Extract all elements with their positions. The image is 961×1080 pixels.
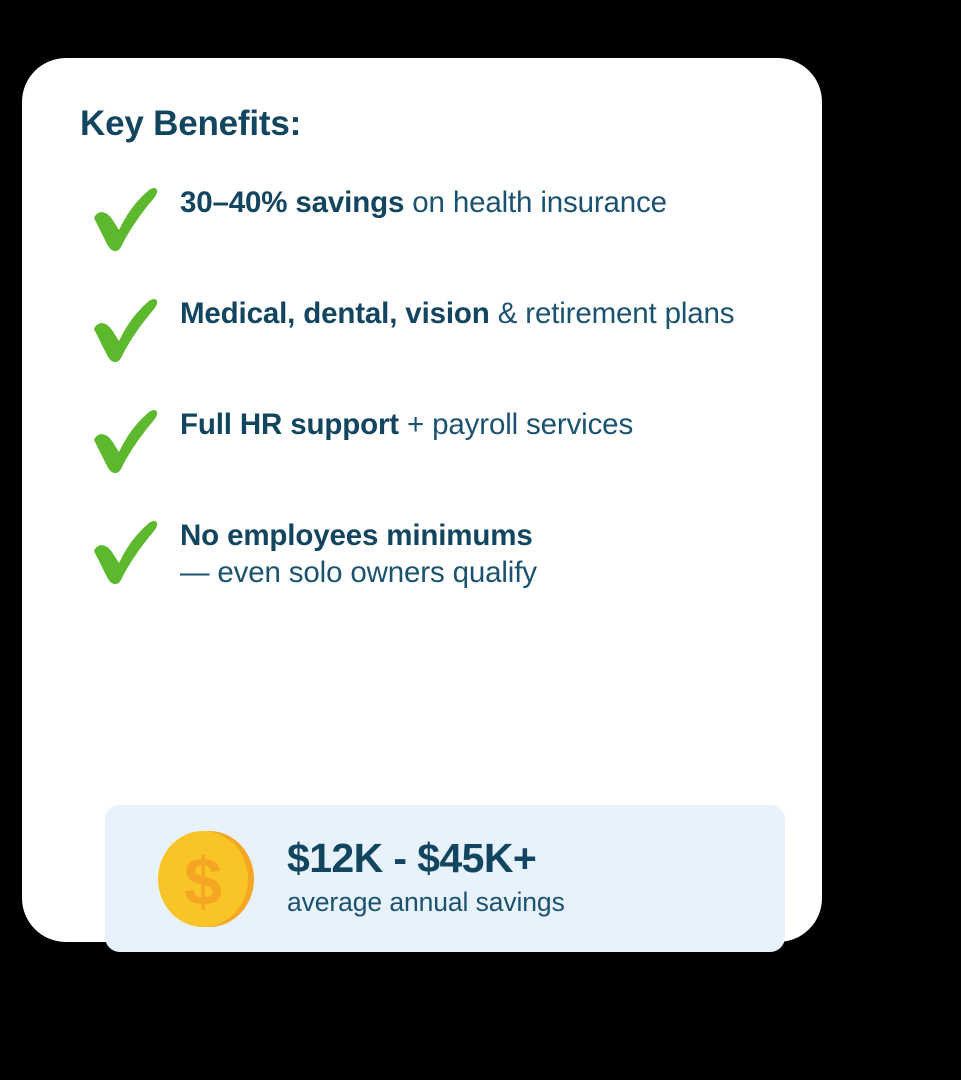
- benefit-text: Medical, dental, vision & retirement pla…: [180, 293, 764, 333]
- benefits-list: 30–40% savings on health insurance Medic…: [80, 182, 764, 607]
- green-check-icon: [80, 178, 180, 256]
- list-item: Full HR support + payroll services: [80, 404, 764, 496]
- benefit-rest: on health insurance: [404, 186, 667, 219]
- page-title: Key Benefits:: [80, 105, 764, 144]
- list-item: Medical, dental, vision & retirement pla…: [80, 293, 764, 385]
- savings-copy: $12K - $45K+ average annual savings: [287, 836, 565, 921]
- benefit-rest: — even solo owners qualify: [180, 554, 764, 592]
- benefit-lead: No employees minimums: [180, 519, 533, 552]
- savings-amount: $12K - $45K+: [287, 836, 565, 882]
- benefit-lead: 30–40% savings: [180, 186, 404, 219]
- green-check-icon: [80, 400, 180, 478]
- savings-caption: average annual savings: [287, 886, 565, 919]
- green-check-icon: [80, 511, 180, 589]
- benefit-lead: Full HR support: [180, 408, 399, 441]
- benefit-lead: Medical, dental, vision: [180, 297, 490, 330]
- svg-text:$: $: [184, 844, 222, 920]
- key-benefits-card: Key Benefits: 30–40% savings on health i…: [22, 58, 822, 942]
- savings-highlight-box: $ $12K - $45K+ average annual savings: [105, 805, 785, 952]
- benefit-text: Full HR support + payroll services: [180, 404, 764, 444]
- benefit-text: 30–40% savings on health insurance: [180, 182, 764, 222]
- page-canvas: Key Benefits: 30–40% savings on health i…: [0, 0, 961, 1080]
- list-item: 30–40% savings on health insurance: [80, 182, 764, 274]
- list-item: No employees minimums— even solo owners …: [80, 515, 764, 607]
- benefit-rest: + payroll services: [399, 408, 633, 441]
- green-check-icon: [80, 289, 180, 367]
- benefit-rest: & retirement plans: [490, 297, 735, 330]
- gold-coin-icon: $: [149, 823, 261, 935]
- benefit-text: No employees minimums— even solo owners …: [180, 515, 764, 593]
